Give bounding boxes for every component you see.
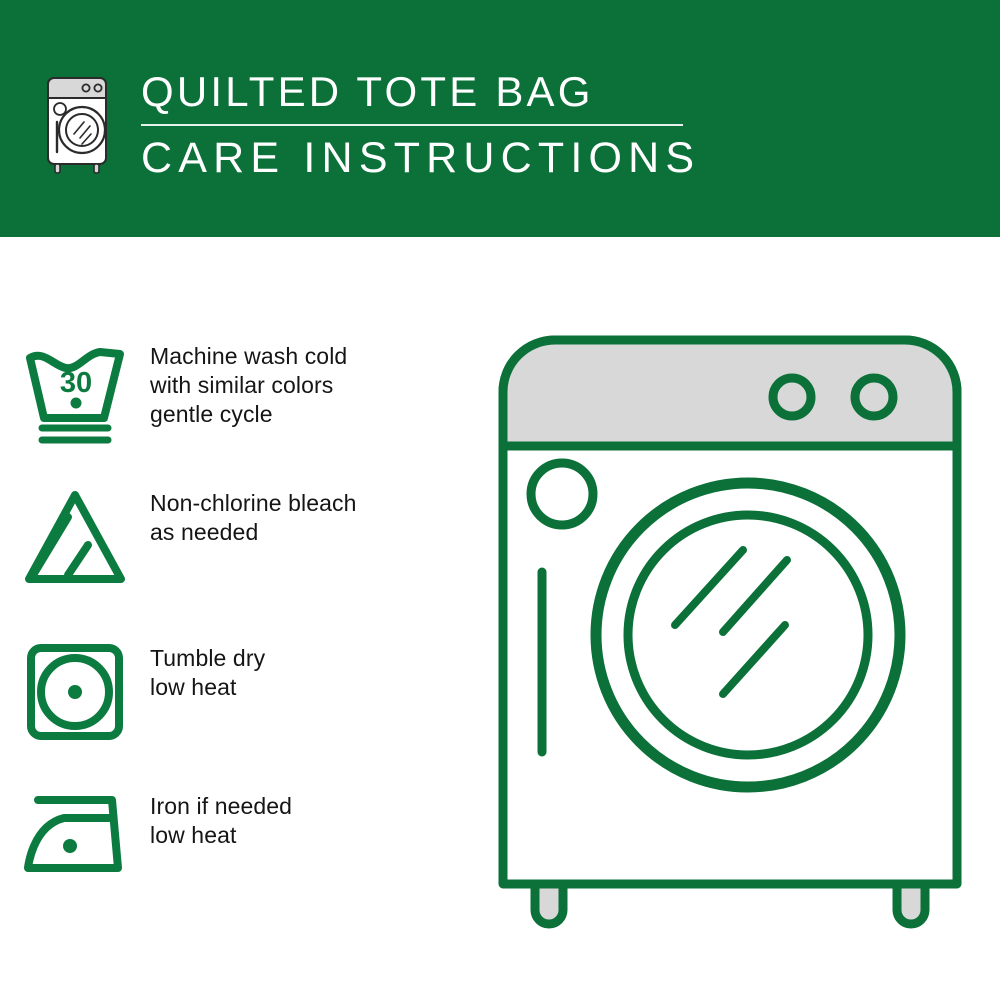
care-text-wash: Machine wash cold with similar colors ge… <box>150 340 347 429</box>
care-text-wash-line-1: Machine wash cold <box>150 342 347 371</box>
care-text-dry-line-2: low heat <box>150 673 265 702</box>
washing-machine-illustration <box>495 332 965 932</box>
washing-machine-icon <box>44 72 112 176</box>
care-text-tumble-dry: Tumble dry low heat <box>150 642 265 702</box>
care-text-dry-line-1: Tumble dry <box>150 644 265 673</box>
bleach-triangle-icon <box>0 487 150 587</box>
care-row-bleach: Non-chlorine bleach as needed <box>0 487 470 587</box>
care-text-wash-line-3: gentle cycle <box>150 400 347 429</box>
tumble-dry-low-icon <box>0 642 150 742</box>
care-text-bleach-line-2: as needed <box>150 518 356 547</box>
header-band: QUILTED TOTE BAG CARE INSTRUCTIONS <box>0 0 1000 237</box>
page-title-secondary: CARE INSTRUCTIONS <box>141 132 781 184</box>
care-text-bleach-line-1: Non-chlorine bleach <box>150 489 356 518</box>
care-text-iron-line-2: low heat <box>150 821 292 850</box>
wash-temperature-label: 30 <box>60 367 92 399</box>
care-text-wash-line-2: with similar colors <box>150 371 347 400</box>
machine-leg-left <box>535 884 563 924</box>
care-text-iron: Iron if needed low heat <box>150 790 292 850</box>
machine-leg-right <box>897 884 925 924</box>
title-divider <box>141 124 683 126</box>
care-instruction-list: 30 Machine wash cold with similar colors… <box>0 237 480 1000</box>
care-text-bleach: Non-chlorine bleach as needed <box>150 487 356 547</box>
care-row-iron: Iron if needed low heat <box>0 790 470 876</box>
care-row-tumble-dry: Tumble dry low heat <box>0 642 470 742</box>
iron-low-heat-icon <box>0 790 150 876</box>
care-instructions-infographic: QUILTED TOTE BAG CARE INSTRUCTIONS 30 Ma… <box>0 0 1000 1000</box>
header-title-block: QUILTED TOTE BAG CARE INSTRUCTIONS <box>141 66 781 184</box>
care-row-wash: 30 Machine wash cold with similar colors… <box>0 340 470 448</box>
wash-tub-30-icon: 30 <box>0 340 150 448</box>
care-text-iron-line-1: Iron if needed <box>150 792 292 821</box>
page-title-primary: QUILTED TOTE BAG <box>141 66 781 118</box>
